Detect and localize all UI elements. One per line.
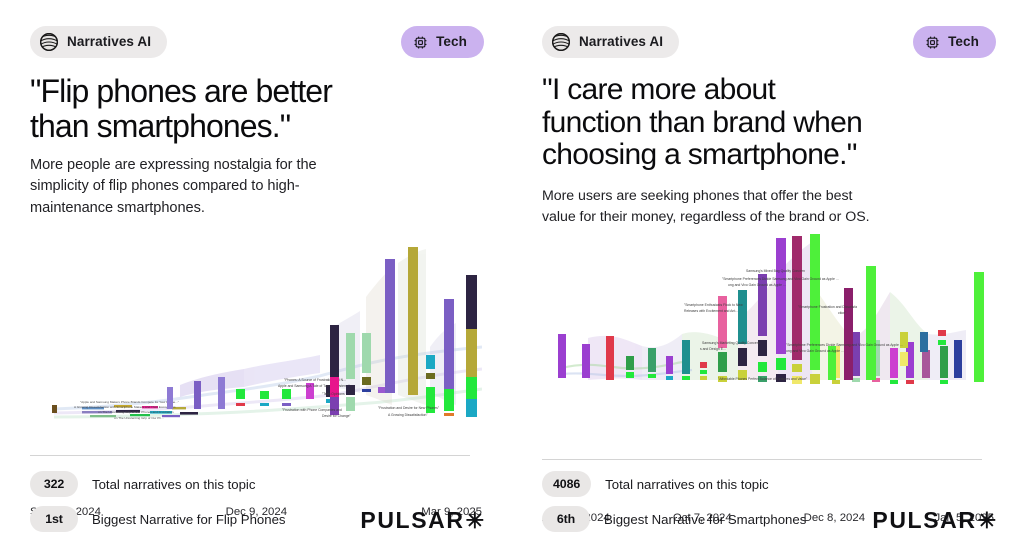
svg-text:Releases with Excitement and A: Releases with Excitement and Ant... [684, 309, 738, 313]
stat-label-rank-left: Biggest Narrative for Flip Phones [92, 512, 286, 527]
category-badge-left[interactable]: Tech [401, 26, 484, 58]
svg-text:"Smartphone Frustration and Di: "Smartphone Frustration and Dissatisfa [798, 305, 857, 309]
card-subhead-left: More people are expressing nostalgia for… [30, 155, 484, 219]
card-footer-right: 4086 Total narratives on this topic 6th … [542, 471, 996, 532]
narrative-card-flip-phones: Narratives AI Tech "Flip phones are bett… [0, 0, 512, 552]
svg-text:"Smartphone Preferences Divide: "Smartphone Preferences Divide Samsung a… [722, 277, 839, 281]
category-badge-right[interactable]: Tech [913, 26, 996, 58]
stat-value-rank-right: 6th [542, 506, 590, 532]
svg-text:A Growing Dissatisfaction": A Growing Dissatisfaction" [388, 413, 428, 417]
pulsar-wordmark-left: PULSAR [360, 507, 464, 534]
svg-text:s and Design E...: s and Design E... [700, 347, 726, 351]
stat-label-total-right: Total narratives on this topic [605, 477, 768, 492]
svg-text:ction": ction" [838, 311, 847, 315]
stat-value-rank-left: 1st [30, 506, 78, 532]
narrative-card-smartphones: Narratives AI Tech "I care more about fu… [512, 0, 1024, 552]
footer-divider-right [542, 459, 982, 460]
svg-text:on The Unrelenting Grip of Our: on The Unrelenting Grip of Our Phones an… [98, 410, 174, 414]
narratives-board: Narratives AI Tech "Flip phones are bett… [0, 0, 1024, 552]
card-subhead-right: More users are seeking phones that offer… [542, 186, 996, 228]
card-headline-right: "I care more about function than brand w… [542, 74, 996, 172]
card-headline-left: "Flip phones are better than smartphones… [30, 74, 484, 144]
svg-text:Samsung's Marketing Quality Co: Samsung's Marketing Quality Concern [702, 341, 760, 345]
pulsar-wordmark-right: PULSAR [872, 507, 976, 534]
cpu-chip-icon [925, 35, 940, 50]
category-badge-label-right: Tech [948, 35, 979, 49]
brand-badge-right[interactable]: Narratives AI [542, 26, 679, 58]
stat-row-total-right: 4086 Total narratives on this topic [542, 471, 996, 497]
stat-label-rank-right: Biggest Narrative for Smartphones [604, 512, 806, 527]
cpu-chip-icon [413, 35, 428, 50]
stat-row-total-left: 322 Total narratives on this topic [30, 471, 484, 497]
svg-text:"Affordable Phones Perfect Bal: "Affordable Phones Perfect Balance of Fe… [718, 377, 808, 381]
svg-text:"Apple and Samsung Makers Phon: "Apple and Samsung Makers Phone Brands C… [80, 400, 179, 404]
svg-text:"Frustration and Desire for Ne: "Frustration and Desire for New Phones" [378, 406, 440, 410]
brand-badge-label-right: Narratives AI [579, 35, 663, 49]
stat-label-total-left: Total narratives on this topic [92, 477, 255, 492]
footer-divider-left [30, 455, 470, 456]
card-header-left: Narratives AI Tech [30, 26, 484, 58]
pulsar-star-icon-left: ✳ [466, 508, 484, 534]
stat-value-total-left: 322 [30, 471, 78, 497]
svg-text:Desire for Change": Desire for Change" [322, 414, 352, 418]
globe-swirl-icon [551, 32, 571, 52]
pulsar-star-icon-right: ✳ [978, 508, 996, 534]
pulsar-logo-right: PULSAR ✳ [872, 507, 996, 534]
category-badge-label-left: Tech [436, 35, 467, 49]
globe-swirl-icon [39, 32, 59, 52]
svg-text:"Tech Opinions: "Tech Opinions [322, 392, 345, 396]
card-header-right: Narratives AI Tech [542, 26, 996, 58]
svg-text:ung and Vivo Gain Ground as Ap: ung and Vivo Gain Ground as Apple ... [786, 349, 844, 353]
brand-badge-left[interactable]: Narratives AI [30, 26, 167, 58]
svg-text:"Smartphone Enthusiasts Flock: "Smartphone Enthusiasts Flock to New [684, 303, 743, 307]
svg-text:"Smartphone Preferences Divide: "Smartphone Preferences Divide Samsung a… [786, 343, 903, 347]
narrative-flow-chart-right[interactable]: Samsung's Mixed Bag Quality Concern "Sma… [542, 228, 994, 408]
svg-text:on The Unrelenting Grip of Our: on The Unrelenting Grip of Our Ph... [114, 416, 164, 420]
svg-text:"Frustration with Phone Compan: "Frustration with Phone Companies and [282, 408, 342, 412]
svg-text:A Growing Dissatisfaction with: A Growing Dissatisfaction with Smartphon… [74, 405, 176, 409]
pulsar-logo-left: PULSAR ✳ [360, 507, 484, 534]
svg-text:Samsung's Mixed Bag Quality Co: Samsung's Mixed Bag Quality Concern [746, 269, 805, 273]
svg-text:Apple and Samsung A Tale of Tw: Apple and Samsung A Tale of Two Ecosyste… [278, 384, 351, 388]
svg-text:ung and Vivo Gain Ground as Ap: ung and Vivo Gain Ground as Apple ... [728, 283, 786, 287]
card-footer-left: 322 Total narratives on this topic 1st B… [30, 471, 484, 532]
narrative-flow-chart-left[interactable]: "Apple and Samsung Makers Phone Brands C… [30, 237, 482, 425]
brand-badge-label-left: Narratives AI [67, 35, 151, 49]
stat-value-total-right: 4086 [542, 471, 591, 497]
